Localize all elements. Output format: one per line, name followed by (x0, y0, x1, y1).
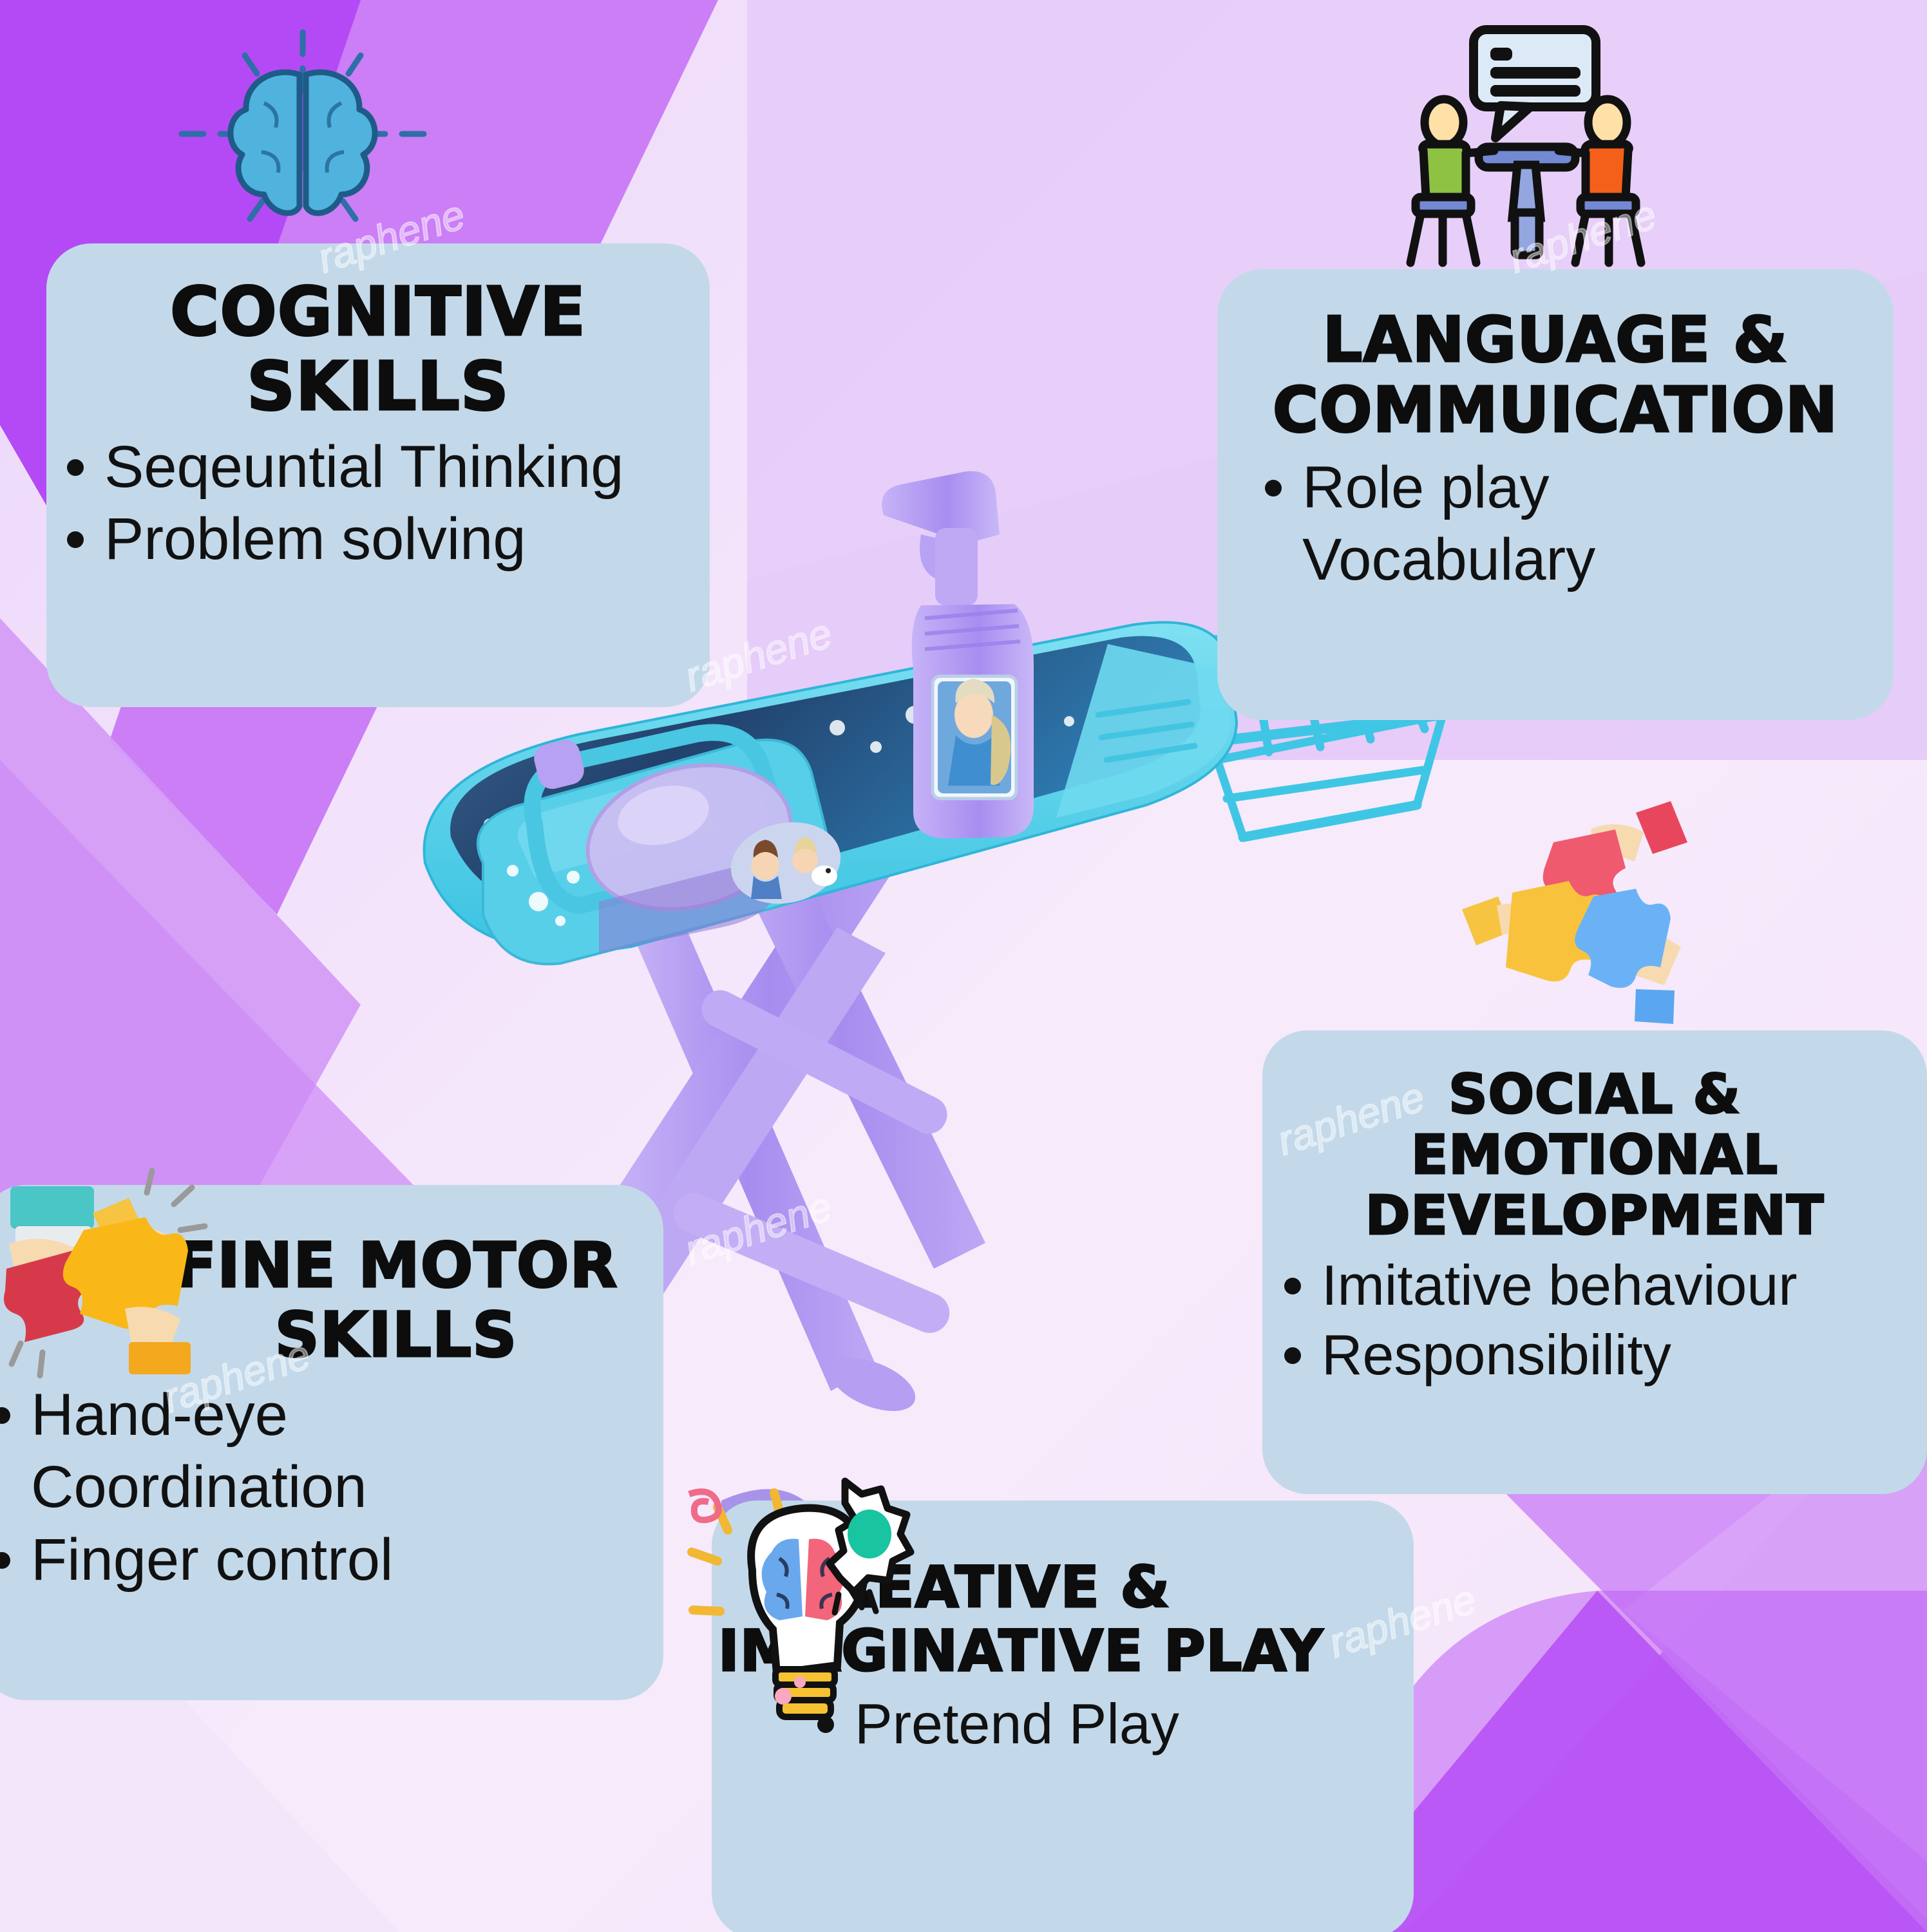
infographic-canvas: COGNITIVE SKILLS Seqeuntial Thinking Pro… (0, 0, 1927, 1932)
puzzle-hands-icon (0, 1159, 245, 1417)
list-item: Problem solving (58, 503, 698, 575)
bullet-list-social: Imitative behaviour Responsibility (1275, 1251, 1927, 1389)
list-item: Responsibility (1275, 1320, 1927, 1389)
card-body-social: Imitative behaviour Responsibility (1262, 1251, 1927, 1389)
list-item: Finger control (0, 1524, 660, 1596)
lightbulb-brain-icon (676, 1475, 934, 1745)
list-item: Coordination (0, 1451, 660, 1523)
card-title-line: EMOTIONAL (1262, 1124, 1927, 1185)
list-item: Seqeuntial Thinking (58, 431, 698, 503)
card-body-language: Role play Vocabulary (1217, 451, 1894, 596)
card-cognitive-skills: COGNITIVE SKILLS Seqeuntial Thinking Pro… (46, 243, 710, 707)
bullet-list-language: Role play Vocabulary (1256, 451, 1855, 596)
card-body-cognitive: Seqeuntial Thinking Problem solving (46, 431, 710, 575)
bullet-list-cognitive: Seqeuntial Thinking Problem solving (58, 431, 698, 575)
card-title-line: LANGUAGE & (1217, 305, 1894, 375)
brain-icon (167, 26, 438, 283)
card-title-social: SOCIAL & EMOTIONAL DEVELOPMENT (1262, 1064, 1927, 1245)
list-item: Imitative behaviour (1275, 1251, 1927, 1320)
list-item: Role play (1256, 451, 1855, 524)
card-social-emotional-development: SOCIAL & EMOTIONAL DEVELOPMENT Imitative… (1262, 1030, 1927, 1494)
card-title-language: LANGUAGE & COMMUICATION (1217, 305, 1894, 445)
people-talking-icon (1404, 24, 1649, 276)
card-title-line: SOCIAL & (1262, 1064, 1927, 1124)
card-title-line: DEVELOPMENT (1262, 1185, 1927, 1245)
card-title-line: COMMUICATION (1217, 375, 1894, 446)
card-title-cognitive: COGNITIVE SKILLS (46, 274, 710, 424)
puzzle-hands-icon (1443, 792, 1713, 1050)
card-language-communication: LANGUAGE & COMMUICATION Role play Vocabu… (1217, 269, 1894, 720)
list-item: Vocabulary (1256, 524, 1855, 596)
